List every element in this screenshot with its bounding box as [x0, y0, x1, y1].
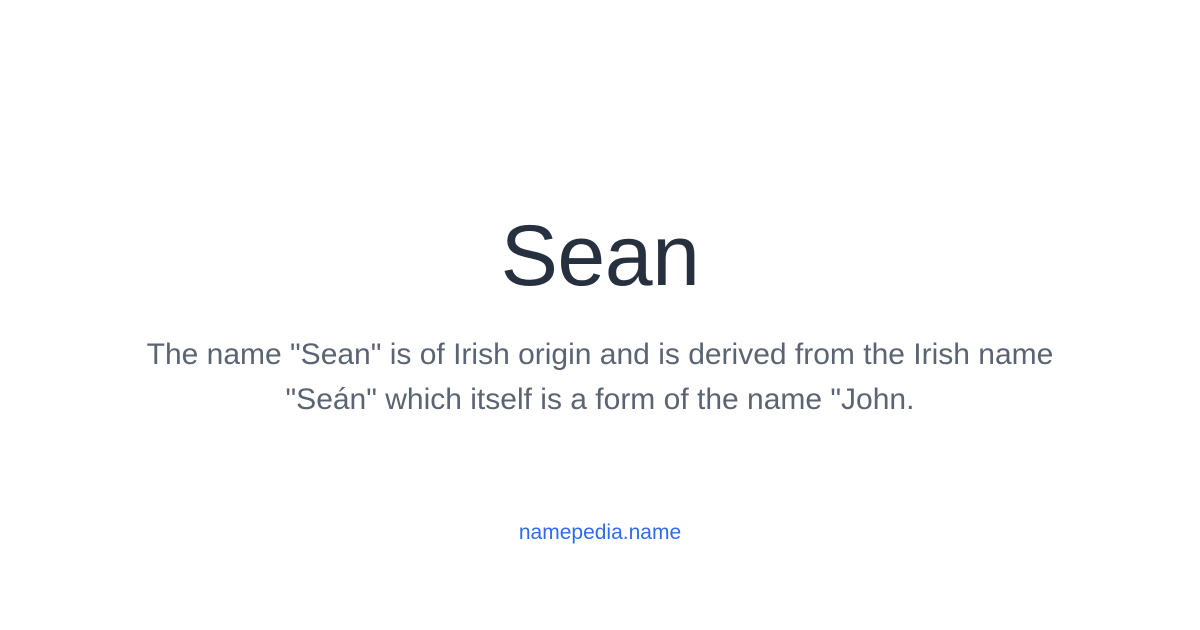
site-link[interactable]: namepedia.name [0, 518, 1200, 548]
name-info-card: Sean The name "Sean" is of Irish origin … [0, 0, 1200, 630]
name-description-text: The name "Sean" is of Irish origin and i… [100, 332, 1100, 422]
page-title: Sean [0, 206, 1200, 306]
